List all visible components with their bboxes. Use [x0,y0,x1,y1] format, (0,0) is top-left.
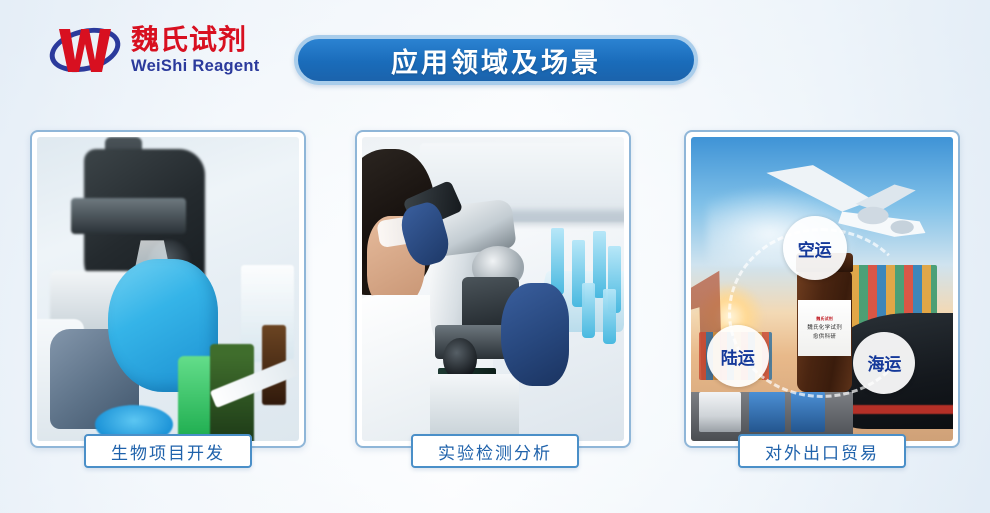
microscope-scientist-photo [362,137,624,441]
test-tube-shape [603,289,616,344]
truck-shape [699,392,741,432]
bottle-label-line2: 愈供科研 [813,332,836,340]
caption-label: 生物项目开发 [111,439,225,464]
caption-label: 对外出口贸易 [765,439,879,464]
caption-label: 实验检测分析 [438,439,552,464]
card-gallery: 魏氏试剂 魏氏化学试剂 愈供科研 空运 陆运 海运 生物项目开发 实验检测分析 … [0,0,990,513]
sea-freight-badge: 海运 [853,332,915,394]
truck-shape [791,392,825,432]
card-foreign-export-trade[interactable]: 魏氏试剂 魏氏化学试剂 愈供科研 空运 陆运 海运 [684,130,960,448]
land-freight-badge: 陆运 [707,325,769,387]
navy-glove-shape [501,283,569,386]
card-bio-project-development[interactable] [30,130,306,448]
caption-experiment-testing-analysis[interactable]: 实验检测分析 [411,434,579,468]
truck-shape [749,392,786,432]
caption-bio-project-development[interactable]: 生物项目开发 [84,434,252,468]
air-freight-badge: 空运 [783,216,847,280]
bottle-label-brand: 魏氏试剂 [816,316,833,322]
test-tube-shape [582,283,595,338]
microscope-base-shape [430,374,519,441]
logistics-photo: 魏氏试剂 魏氏化学试剂 愈供科研 空运 陆运 海运 [691,137,953,441]
card-experiment-testing-analysis[interactable] [355,130,631,448]
caption-foreign-export-trade[interactable]: 对外出口贸易 [738,434,906,468]
lab-flask-photo [37,137,299,441]
bottle-label: 魏氏试剂 魏氏化学试剂 愈供科研 [798,300,851,356]
bottle-label-line1: 魏氏化学试剂 [807,323,842,331]
microscope-stage-shape [71,198,186,234]
